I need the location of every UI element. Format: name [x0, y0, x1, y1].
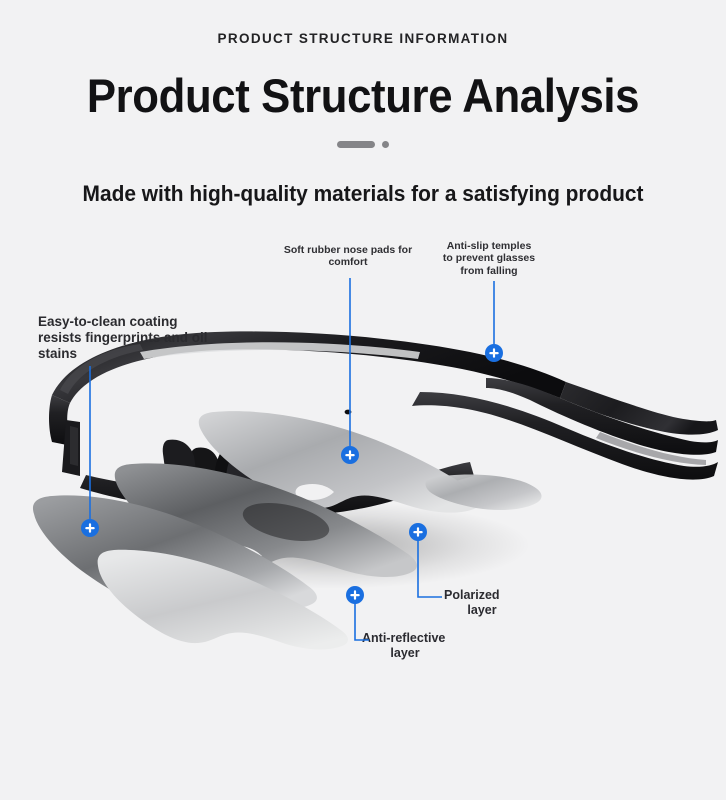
callout-easy-clean-coating-line-3: stains: [38, 346, 278, 362]
callout-anti-slip-temples-line-2: to prevent glasses: [436, 252, 542, 264]
marker-nose-pads[interactable]: [341, 446, 359, 464]
marker-easy-clean-coating[interactable]: [81, 519, 99, 537]
callout-anti-reflective-layer-line-2: layer: [362, 646, 448, 661]
marker-anti-reflective-layer[interactable]: [346, 586, 364, 604]
callout-polarized-layer: Polarized layer: [444, 588, 520, 618]
callout-anti-reflective-layer: Anti-reflective layer: [362, 631, 448, 661]
marker-polarized-layer[interactable]: [409, 523, 427, 541]
callout-nose-pads-line-2: comfort: [272, 256, 424, 268]
callout-easy-clean-coating-line-2: resists fingerprints and oil: [38, 330, 278, 346]
marker-anti-slip-temples[interactable]: [485, 344, 503, 362]
eyebrow-text: PRODUCT STRUCTURE INFORMATION: [0, 31, 726, 46]
divider-dot: [382, 141, 389, 148]
callout-easy-clean-coating: Easy-to-clean coating resists fingerprin…: [38, 314, 278, 362]
callout-anti-reflective-layer-line-1: Anti-reflective: [362, 631, 448, 646]
callout-polarized-layer-line-1: Polarized: [444, 588, 520, 603]
page-subtitle: Made with high-quality materials for a s…: [18, 181, 708, 207]
callout-anti-slip-temples: Anti-slip temples to prevent glasses fro…: [436, 240, 542, 277]
callout-nose-pads-line-1: Soft rubber nose pads for: [272, 244, 424, 256]
callout-nose-pads: Soft rubber nose pads for comfort: [272, 244, 424, 269]
divider: [0, 141, 726, 148]
callout-polarized-layer-line-2: layer: [444, 603, 520, 618]
divider-bar: [337, 141, 375, 148]
infographic-page: PRODUCT STRUCTURE INFORMATION Product St…: [0, 0, 726, 800]
callout-anti-slip-temples-line-3: from falling: [436, 265, 542, 277]
callout-easy-clean-coating-line-1: Easy-to-clean coating: [38, 314, 278, 330]
page-title: Product Structure Analysis: [25, 68, 700, 124]
callout-anti-slip-temples-line-1: Anti-slip temples: [436, 240, 542, 252]
